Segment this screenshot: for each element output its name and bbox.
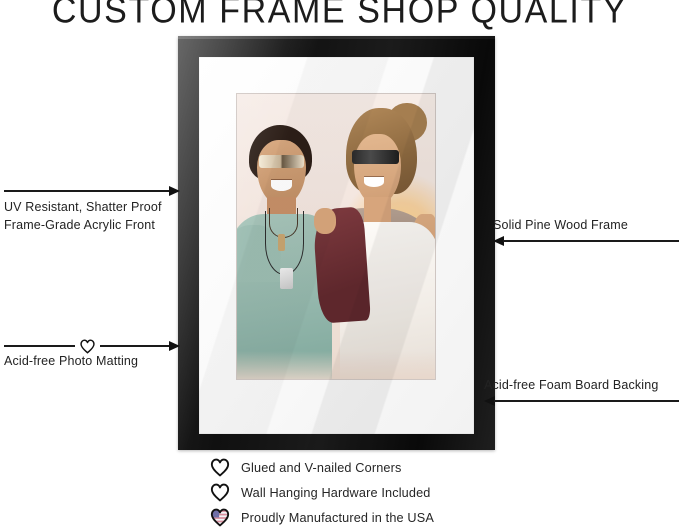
man-dog-tag	[280, 268, 294, 289]
callout-photo-matting: Acid-free Photo Matting	[4, 340, 180, 369]
feature-label: Glued and V-nailed Corners	[241, 461, 401, 475]
feature-list: Glued and V-nailed Corners Wall Hanging …	[209, 455, 539, 530]
arrow-line	[4, 345, 75, 346]
man-chain-necklace	[265, 211, 305, 275]
picture-frame	[178, 36, 495, 450]
callout-label-line1: Acid-free Photo Matting	[4, 354, 180, 369]
woman-sunglasses	[352, 150, 400, 164]
heart-outline-icon	[79, 339, 96, 354]
infographic-canvas: CUSTOM FRAME SHOP QUALITY	[0, 0, 679, 530]
callout-label-line1: UV Resistant, Shatter Proof	[4, 200, 180, 215]
callout-wood-frame: Solid Pine Wood Frame	[493, 218, 679, 247]
heart-outline-icon	[209, 483, 231, 502]
arrow-line	[494, 400, 679, 401]
photo-mat	[199, 57, 474, 434]
callout-arrow-left	[493, 235, 679, 247]
woman-hand	[314, 208, 336, 234]
arrow-line	[4, 190, 170, 191]
feature-label: Wall Hanging Hardware Included	[241, 486, 431, 500]
callout-acrylic-front: UV Resistant, Shatter Proof Frame-Grade …	[4, 185, 180, 233]
man-face	[257, 140, 307, 206]
list-item: Wall Hanging Hardware Included	[209, 480, 539, 505]
man-sunglasses	[259, 155, 305, 168]
mat-window	[237, 94, 435, 379]
feature-label: Proudly Manufactured in the USA	[241, 511, 434, 525]
page-title: CUSTOM FRAME SHOP QUALITY	[0, 0, 679, 32]
callout-label-line2: Frame-Grade Acrylic Front	[4, 218, 180, 233]
frame-top-highlight	[178, 36, 495, 39]
photo-bottom-fade	[237, 351, 435, 380]
heart-usa-flag-icon	[209, 508, 231, 527]
arrow-head-right-icon	[169, 186, 180, 196]
list-item: Glued and V-nailed Corners	[209, 455, 539, 480]
heart-outline-icon	[209, 458, 231, 477]
callout-arrow-left	[484, 395, 679, 407]
callout-label-line1: Solid Pine Wood Frame	[493, 218, 679, 233]
woman-neck	[364, 197, 392, 226]
callout-arrow-right	[4, 185, 180, 197]
arrow-line	[503, 240, 679, 241]
callout-arrow-right	[4, 340, 180, 352]
arrow-head-right-icon	[169, 341, 180, 351]
man-smile	[271, 180, 293, 191]
framed-photo	[237, 94, 435, 379]
arrow-line	[100, 345, 171, 346]
list-item: Proudly Manufactured in the USA	[209, 505, 539, 530]
callout-label-line1: Acid-free Foam Board Backing	[484, 378, 679, 393]
callout-foam-backing: Acid-free Foam Board Backing	[484, 378, 679, 407]
woman-smile	[364, 177, 384, 187]
